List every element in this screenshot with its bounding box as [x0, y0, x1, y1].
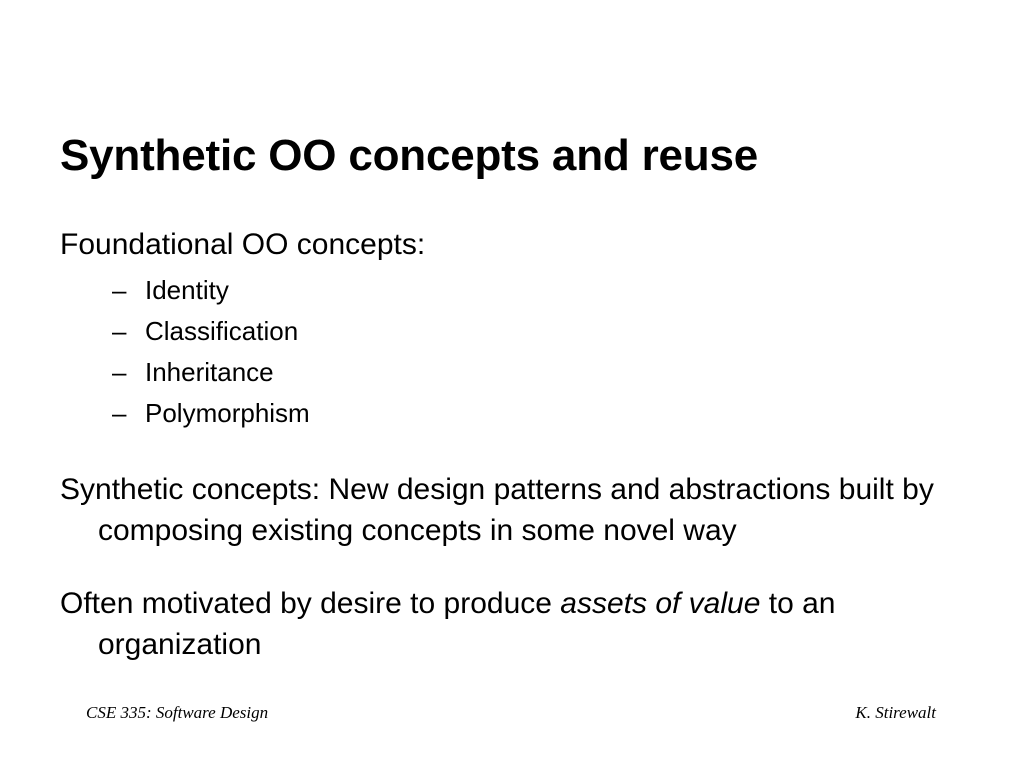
slide-footer: CSE 335: Software Design K. Stirewalt: [0, 703, 1024, 733]
paragraph-assets-of-value: Often motivated by desire to produce ass…: [60, 584, 955, 666]
list-item: – Classification: [60, 311, 955, 352]
dash-bullet-icon: –: [112, 270, 126, 311]
footer-course-label: CSE 335: Software Design: [86, 703, 268, 723]
emphasized-phrase: assets of value: [560, 587, 760, 620]
list-item: – Polymorphism: [60, 393, 955, 434]
slide-body: Foundational OO concepts: – Identity – C…: [60, 225, 955, 666]
paragraph-text: Synthetic concepts: New design patterns …: [60, 473, 934, 547]
list-item-label: Polymorphism: [145, 398, 310, 428]
slide: Synthetic OO concepts and reuse Foundati…: [0, 0, 1024, 768]
bullet-list: – Identity – Classification – Inheritanc…: [60, 270, 955, 434]
lead-text: Foundational OO concepts:: [60, 225, 955, 264]
page-title: Synthetic OO concepts and reuse: [60, 133, 960, 179]
dash-bullet-icon: –: [112, 352, 126, 393]
list-item-label: Inheritance: [145, 357, 274, 387]
footer-author-label: K. Stirewalt: [855, 703, 936, 723]
dash-bullet-icon: –: [112, 393, 126, 434]
paragraph-synthetic-concepts: Synthetic concepts: New design patterns …: [60, 470, 955, 552]
paragraph-text-pre: Often motivated by desire to produce: [60, 587, 560, 620]
list-item-label: Identity: [145, 275, 229, 305]
dash-bullet-icon: –: [112, 311, 126, 352]
list-item: – Identity: [60, 270, 955, 311]
list-item-label: Classification: [145, 316, 298, 346]
list-item: – Inheritance: [60, 352, 955, 393]
